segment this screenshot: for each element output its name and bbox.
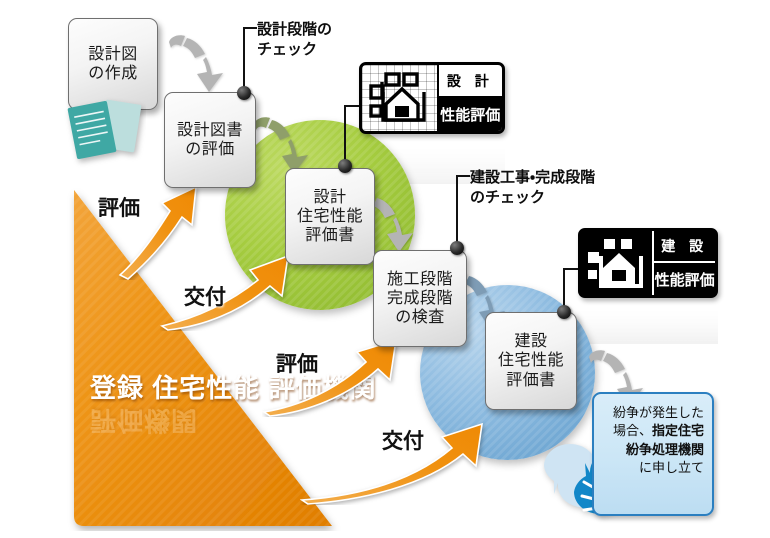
dispute-note-line2-plain: 場合、	[613, 423, 652, 438]
organization-line1: 登録	[90, 373, 144, 403]
leader-design-stage-check-horizontal	[243, 27, 257, 29]
step-construction-inspect-line3: の検査	[395, 308, 445, 327]
flow-label-evaluation-2: 評価	[276, 348, 318, 378]
step-construction-inspect-line2: 完成段階	[387, 289, 453, 308]
step-box-design-doc-evaluation: 設計図書 の評価	[164, 92, 256, 188]
step-construction-report-line1: 建設	[514, 332, 547, 351]
flow-label-evaluation-1: 評価	[98, 192, 140, 222]
step-design-report-line1: 設計	[313, 188, 346, 207]
construction-badge-top: 建 設	[654, 231, 715, 263]
dispute-note-line3-bold: 紛争処理機関	[626, 442, 704, 457]
step-design-drawing-line1: 設計図	[88, 45, 138, 64]
construction-badge-text: 建 設 性能評価	[654, 231, 715, 295]
step-construction-inspect-line1: 施工段階	[387, 270, 453, 289]
leader-dot-design-badge	[338, 159, 352, 173]
leader-construction-badge-vertical	[563, 268, 565, 308]
house-plan-icon	[362, 65, 439, 131]
step-design-report-line2: 住宅性能	[297, 207, 363, 226]
leader-construction-stage-check-vertical	[456, 175, 458, 243]
callout-construction-line2: のチェック	[470, 188, 595, 208]
dispute-note-line2-bold: 指定住宅	[652, 423, 704, 438]
flow-label-delivery-1: 交付	[184, 281, 226, 311]
design-badge-top: 設 計	[439, 65, 502, 98]
leader-design-badge-vertical	[344, 105, 346, 162]
dispute-note-line3: 紛争処理機関	[602, 441, 704, 459]
step-design-report-line3: 評価書	[305, 226, 355, 245]
dispute-note-line4: に申し立て	[602, 459, 704, 477]
leader-construction-stage-check-horizontal	[456, 175, 470, 177]
step-design-doc-line2: の評価	[185, 140, 235, 159]
construction-certification-badge: 建 設 性能評価	[578, 228, 718, 298]
step-construction-report-line3: 評価書	[506, 371, 556, 390]
callout-construction-stage-check: 建設工事・完成段階 のチェック	[470, 168, 595, 207]
dispute-note-line1: 紛争が発生した	[602, 404, 704, 422]
design-certification-badge: 設 計 性能評価	[359, 62, 505, 134]
process-arrow-1	[165, 30, 235, 100]
step-box-design-performance-report: 設計 住宅性能 評価書	[285, 168, 375, 265]
leader-dot-design-stage-check	[237, 86, 251, 100]
callout-design-line2: チェック	[257, 40, 332, 60]
step-box-construction-inspection: 施工段階 完成段階 の検査	[373, 250, 467, 347]
housing-performance-flow-diagram: 登録 住宅性能 評価機関 評価機関 評価 交付 評価 交付	[0, 0, 770, 538]
leader-design-stage-check-vertical	[243, 27, 245, 89]
leader-dot-construction-badge	[557, 305, 571, 319]
flow-label-delivery-2: 交付	[382, 425, 424, 455]
house-building-icon	[581, 231, 654, 295]
step-construction-report-line2: 住宅性能	[498, 351, 564, 370]
callout-design-stage-check: 設計段階の チェック	[257, 20, 332, 59]
dispute-resolution-note: 紛争が発生した 場合、指定住宅 紛争処理機関 に申し立て	[592, 392, 714, 516]
step-box-construction-performance-report: 建設 住宅性能 評価書	[485, 312, 577, 410]
documents-icon	[64, 96, 146, 168]
construction-badge-bottom: 性能評価	[654, 263, 715, 295]
organization-line2: 住宅性能	[152, 373, 260, 403]
design-badge-text: 設 計 性能評価	[439, 65, 502, 131]
dispute-note-line2: 場合、指定住宅	[602, 422, 704, 440]
callout-construction-line1: 建設工事・完成段階	[470, 168, 595, 188]
step-design-doc-line1: 設計図書	[177, 121, 243, 140]
callout-design-line1: 設計段階の	[257, 20, 332, 40]
leader-dot-construction-stage-check	[450, 241, 464, 255]
design-badge-bottom: 性能評価	[439, 98, 502, 131]
step-design-drawing-line2: の作成	[88, 64, 138, 83]
construction-badge-reflection	[578, 300, 718, 344]
